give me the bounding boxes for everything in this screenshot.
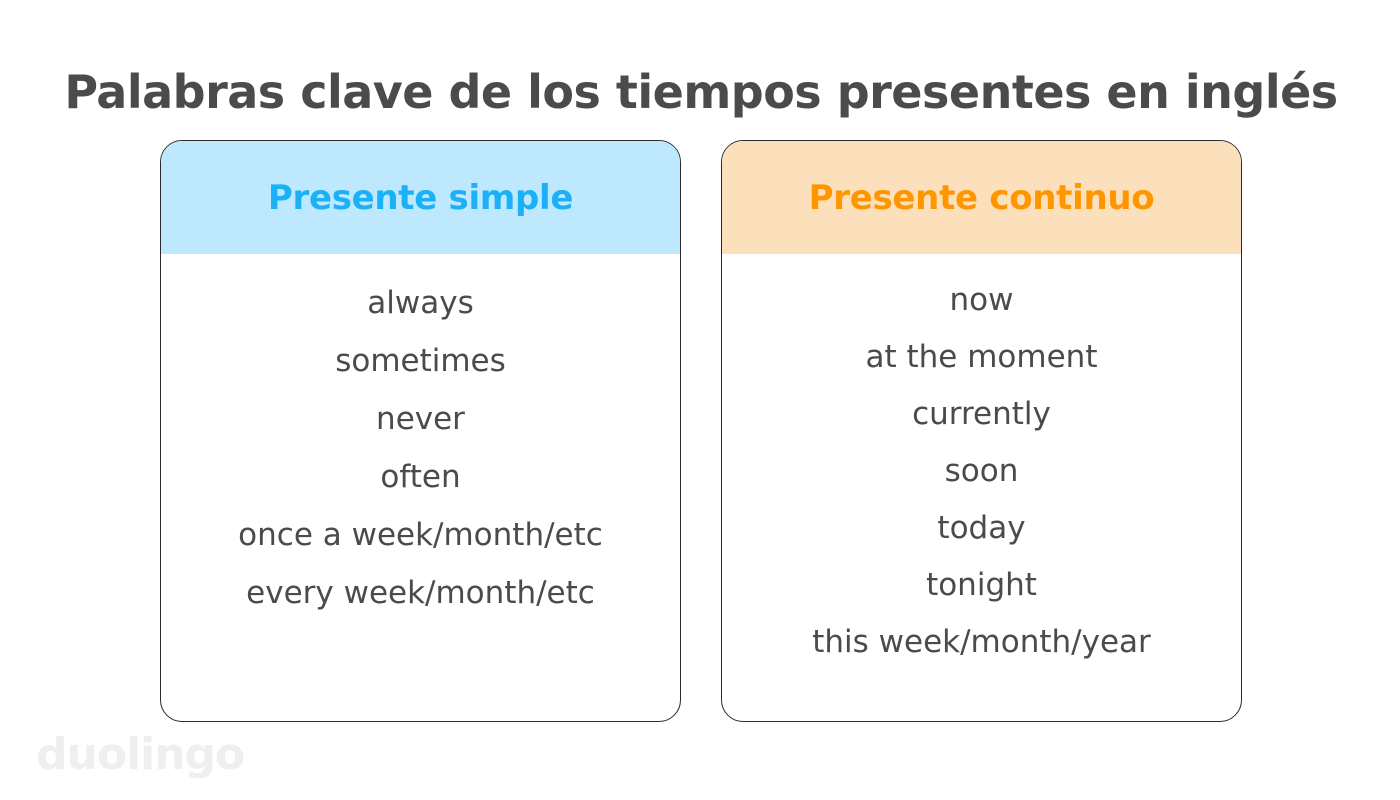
list-item: at the moment [866,329,1098,386]
card-presente-simple: Presente simple always sometimes never o… [160,140,681,722]
list-item: today [937,500,1025,557]
card-body-presente-continuo: now at the moment currently soon today t… [722,254,1241,721]
list-item: currently [912,386,1051,443]
card-title-label: Presente continuo [809,178,1155,218]
card-body-presente-simple: always sometimes never often once a week… [161,254,680,721]
card-title-label: Presente simple [268,178,573,218]
duolingo-logo: duolingo [36,730,244,780]
list-item: this week/month/year [812,614,1151,671]
cards-container: Presente simple always sometimes never o… [160,140,1242,722]
list-item: now [950,272,1014,329]
card-header-presente-simple: Presente simple [161,141,680,254]
list-item: once a week/month/etc [238,506,603,564]
page-title: Palabras clave de los tiempos presentes … [36,63,1366,121]
list-item: often [380,448,460,506]
list-item: sometimes [335,332,506,390]
list-item: every week/month/etc [246,564,595,622]
list-item: never [376,390,465,448]
list-item: always [367,274,473,332]
list-item: tonight [926,557,1037,614]
list-item: soon [945,443,1019,500]
card-presente-continuo: Presente continuo now at the moment curr… [721,140,1242,722]
card-header-presente-continuo: Presente continuo [722,141,1241,254]
